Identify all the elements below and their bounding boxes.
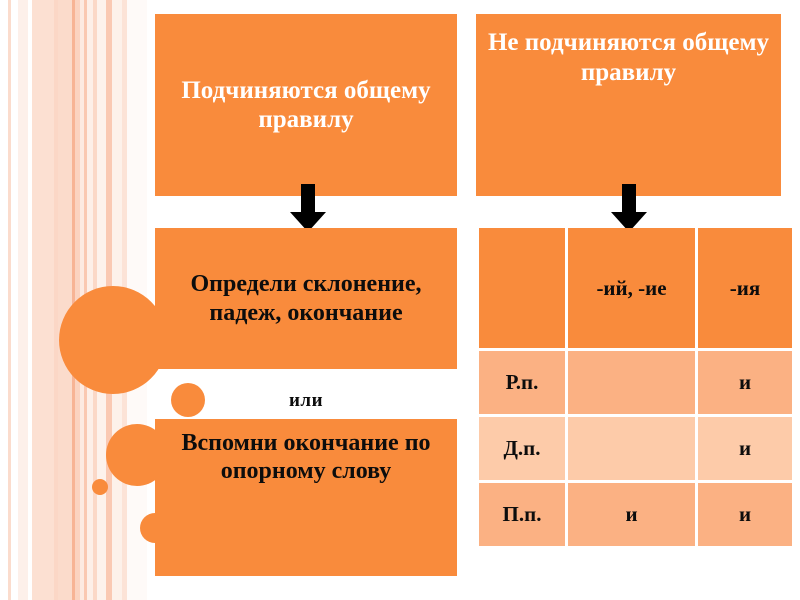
- tiny-circle: [92, 479, 108, 495]
- left-step-one-box: Определи склонение, падеж, окончание: [155, 228, 457, 369]
- slide-canvas: Подчиняются общему правилу Определи скло…: [0, 0, 800, 600]
- table-row-label: Р.п.: [479, 351, 565, 414]
- endings-table-body: Р.п. и Д.п. и П.п. и и: [479, 351, 792, 546]
- endings-table: -ий, -ие -ия Р.п. и Д.п. и П.п. и и: [476, 225, 795, 549]
- large-circle: [59, 286, 167, 394]
- table-header-cell-0: [479, 228, 565, 348]
- right-header-box: Не подчиняются общему правилу: [476, 14, 781, 196]
- table-row-label: П.п.: [479, 483, 565, 546]
- table-header-row: -ий, -ие -ия: [479, 228, 792, 348]
- table-cell: и: [698, 351, 792, 414]
- decorative-stripe-1: [18, 0, 28, 600]
- left-step-two-label: Вспомни окончание по опорному слову: [163, 429, 449, 486]
- table-cell: [568, 351, 695, 414]
- table-cell: и: [698, 483, 792, 546]
- decorative-stripe-4: [58, 0, 72, 600]
- arrow-down-icon-left: [286, 184, 330, 232]
- decorative-stripe-2: [32, 0, 54, 600]
- table-cell: [568, 417, 695, 480]
- left-header-label: Подчиняются общему правилу: [169, 76, 443, 135]
- table-header-cell-1: -ий, -ие: [568, 228, 695, 348]
- left-step-two-box: Вспомни окончание по опорному слову: [155, 419, 457, 576]
- decorative-stripe-0: [8, 0, 11, 600]
- connector-or-label: или: [155, 390, 457, 412]
- table-cell: и: [698, 417, 792, 480]
- table-row: П.п. и и: [479, 483, 792, 546]
- table-header-cell-2: -ия: [698, 228, 792, 348]
- left-step-one-label: Определи склонение, падеж, окончание: [165, 270, 447, 327]
- table-cell: и: [568, 483, 695, 546]
- endings-table-head: -ий, -ие -ия: [479, 228, 792, 348]
- table-row: Р.п. и: [479, 351, 792, 414]
- left-header-box: Подчиняются общему правилу: [155, 14, 457, 196]
- table-row-label: Д.п.: [479, 417, 565, 480]
- table-row: Д.п. и: [479, 417, 792, 480]
- right-header-label: Не подчиняются общему правилу: [486, 28, 771, 87]
